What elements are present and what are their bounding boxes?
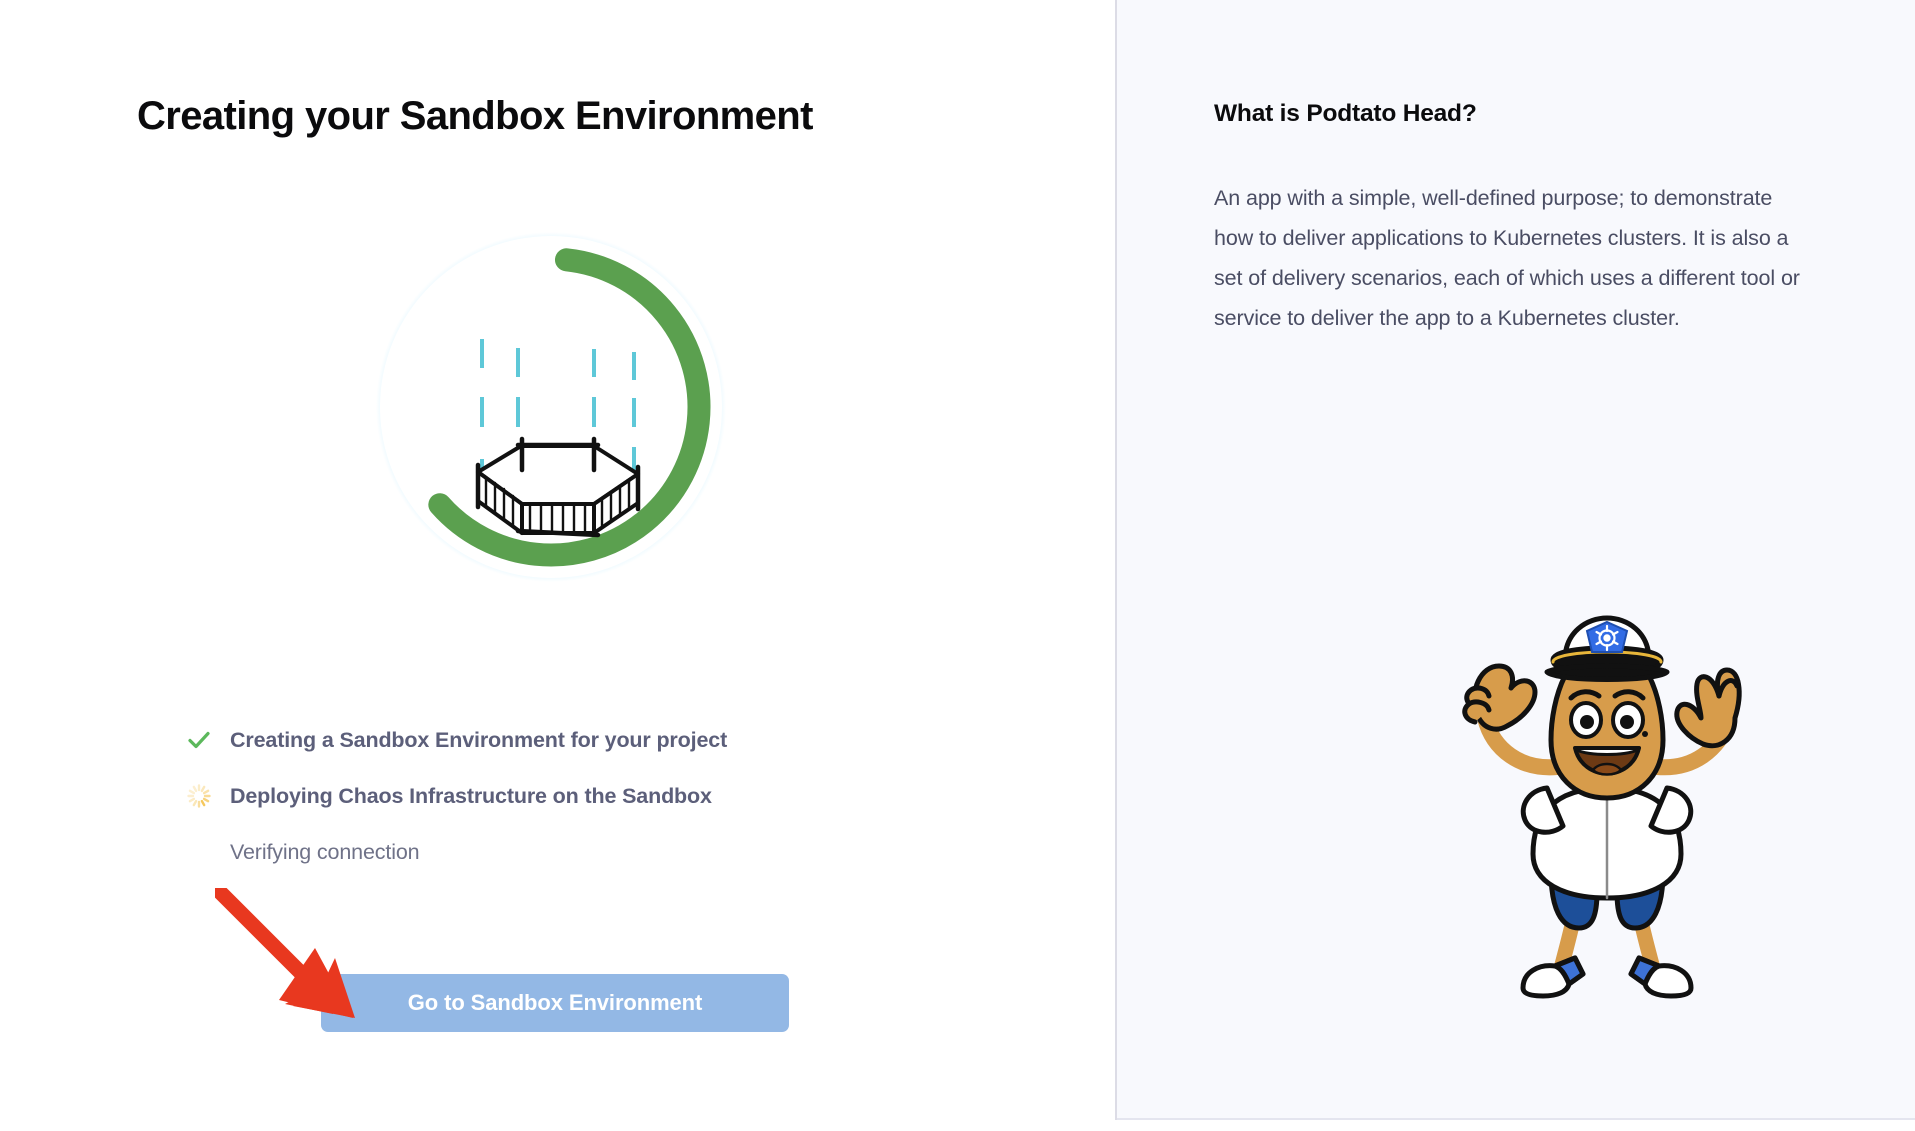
spinner-icon [186, 781, 230, 811]
info-body: An app with a simple, well-defined purpo… [1214, 178, 1814, 338]
status-item-label: Verifying connection [230, 840, 419, 865]
status-item-label: Deploying Chaos Infrastructure on the Sa… [230, 784, 712, 809]
status-item-label: Creating a Sandbox Environment for your … [230, 728, 727, 753]
info-pane: What is Podtato Head? An app with a simp… [1117, 0, 1915, 1120]
page-title: Creating your Sandbox Environment [137, 94, 813, 139]
check-icon [186, 725, 230, 755]
info-title: What is Podtato Head? [1214, 100, 1477, 128]
status-item-0: Creating a Sandbox Environment for your … [186, 712, 966, 768]
status-item-2: Verifying connection [186, 824, 966, 880]
sandbox-creation-progress [366, 222, 736, 592]
sandbox-illustration [366, 222, 736, 592]
status-list: Creating a Sandbox Environment for your … [186, 712, 966, 880]
status-item-1: Deploying Chaos Infrastructure on the Sa… [186, 768, 966, 824]
podtato-head-mascot [1447, 592, 1767, 1002]
onboarding-page: Creating your Sandbox Environment [0, 0, 1915, 1131]
go-to-sandbox-environment-button[interactable]: Go to Sandbox Environment [321, 974, 789, 1032]
status-icon-placeholder [186, 837, 230, 867]
sandbox-creation-pane: Creating your Sandbox Environment [0, 0, 1115, 1131]
